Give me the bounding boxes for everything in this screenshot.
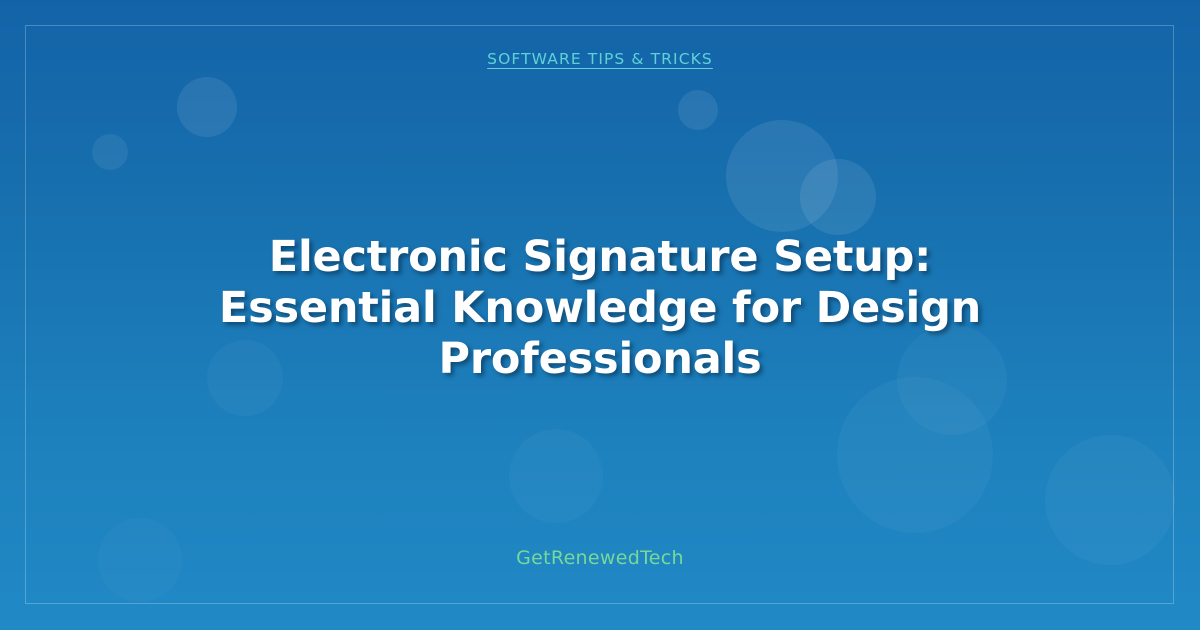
category-kicker: SOFTWARE TIPS & TRICKS bbox=[487, 52, 713, 68]
card-content: SOFTWARE TIPS & TRICKS Electronic Signat… bbox=[0, 0, 1200, 630]
social-share-card: SOFTWARE TIPS & TRICKS Electronic Signat… bbox=[0, 0, 1200, 630]
title-container: Electronic Signature Setup: Essential Kn… bbox=[90, 68, 1110, 550]
page-title: Electronic Signature Setup: Essential Kn… bbox=[180, 232, 1020, 384]
brand-name: GetRenewedTech bbox=[516, 549, 684, 568]
